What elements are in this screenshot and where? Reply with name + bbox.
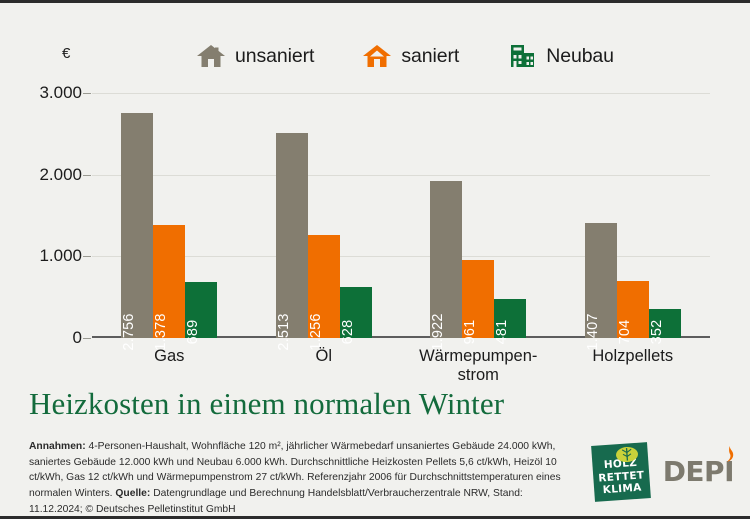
x-axis-category-label: Wärmepumpen- strom — [419, 347, 537, 386]
legend-item-unsaniert: unsaniert — [196, 41, 314, 71]
legend-item-neubau: Neubau — [507, 41, 614, 71]
y-axis-tick-label: 3.000 — [39, 83, 82, 103]
house-icon — [196, 41, 226, 71]
footnote-source-label: Quelle: — [115, 488, 150, 499]
y-axis-tick-label: 0 — [73, 328, 82, 348]
bar[interactable]: 1.256 — [308, 235, 340, 338]
y-axis-tick-mark — [83, 338, 91, 339]
bar-group: 2.5131.256628Öl — [247, 93, 402, 338]
legend-label-saniert: saniert — [401, 45, 459, 68]
chart-legend: unsaniert saniert — [0, 33, 750, 79]
bar[interactable]: 1.378 — [153, 225, 185, 338]
logo-line-3: KLIMA — [602, 481, 642, 496]
legend-item-saniert: saniert — [362, 41, 459, 71]
y-axis-tick-mark — [83, 175, 91, 176]
bar-value-label: 352 — [649, 320, 665, 345]
legend-label-unsaniert: unsaniert — [235, 45, 314, 68]
bar-value-label: 1.378 — [153, 313, 169, 350]
bar[interactable]: 1.922 — [430, 181, 462, 338]
house-icon — [362, 41, 392, 71]
bar-value-label: 2.756 — [121, 313, 137, 350]
bar-value-label: 1.256 — [308, 313, 324, 350]
bar-value-label: 1.407 — [585, 313, 601, 350]
footnote-text: Annahmen: 4-Personen-Haushalt, Wohnfläch… — [29, 439, 577, 517]
bar-value-label: 2.513 — [276, 313, 292, 350]
bar-value-label: 704 — [617, 320, 633, 345]
bar[interactable]: 1.407 — [585, 223, 617, 338]
y-axis-tick-label: 2.000 — [39, 165, 82, 185]
bar-value-label: 689 — [185, 320, 201, 345]
x-axis-category-label: Gas — [154, 347, 184, 366]
holz-rettet-klima-logo: HOLZ RETTET KLIMA — [591, 442, 651, 502]
bar-value-label: 628 — [340, 320, 356, 345]
leaf-icon — [614, 445, 639, 464]
logo-group: HOLZ RETTET KLIMA DEPI — [582, 441, 734, 503]
bar-group: 1.407704352Holzpellets — [556, 93, 711, 338]
bar[interactable]: 2.756 — [121, 113, 153, 338]
bar[interactable]: 481 — [494, 299, 526, 338]
depi-logo: DEPI — [663, 458, 734, 486]
bar[interactable]: 628 — [340, 287, 372, 338]
infographic-page: € unsaniert saniert — [0, 0, 750, 519]
bar-value-label: 481 — [494, 320, 510, 345]
legend-label-neubau: Neubau — [546, 45, 614, 68]
bar[interactable]: 961 — [462, 260, 494, 338]
y-axis-tick-label: 1.000 — [39, 246, 82, 266]
bar[interactable]: 2.513 — [276, 133, 308, 338]
bar-value-label: 961 — [462, 320, 478, 345]
bar[interactable]: 352 — [649, 309, 681, 338]
bar[interactable]: 704 — [617, 281, 649, 338]
footnote-assumptions-label: Annahmen: — [29, 441, 86, 452]
bar[interactable]: 689 — [185, 282, 217, 338]
depi-wordmark: DEPI — [663, 458, 734, 486]
bar-value-label: 1.922 — [430, 313, 446, 350]
bar-group: 2.7561.378689Gas — [92, 93, 247, 338]
bar-chart-plot: 01.0002.0003.000 2.7561.378689Gas2.5131.… — [92, 93, 710, 338]
flame-icon — [722, 446, 735, 462]
x-axis-category-label: Öl — [316, 347, 333, 366]
y-axis-tick-mark — [83, 256, 91, 257]
chart-title: Heizkosten in einem normalen Winter — [29, 386, 504, 422]
bar-group: 1.922961481Wärmepumpen- strom — [401, 93, 556, 338]
building-icon — [507, 41, 537, 71]
y-axis-tick-mark — [83, 93, 91, 94]
bar-groups: 2.7561.378689Gas2.5131.256628Öl1.9229614… — [92, 93, 710, 338]
x-axis-category-label: Holzpellets — [592, 347, 673, 366]
